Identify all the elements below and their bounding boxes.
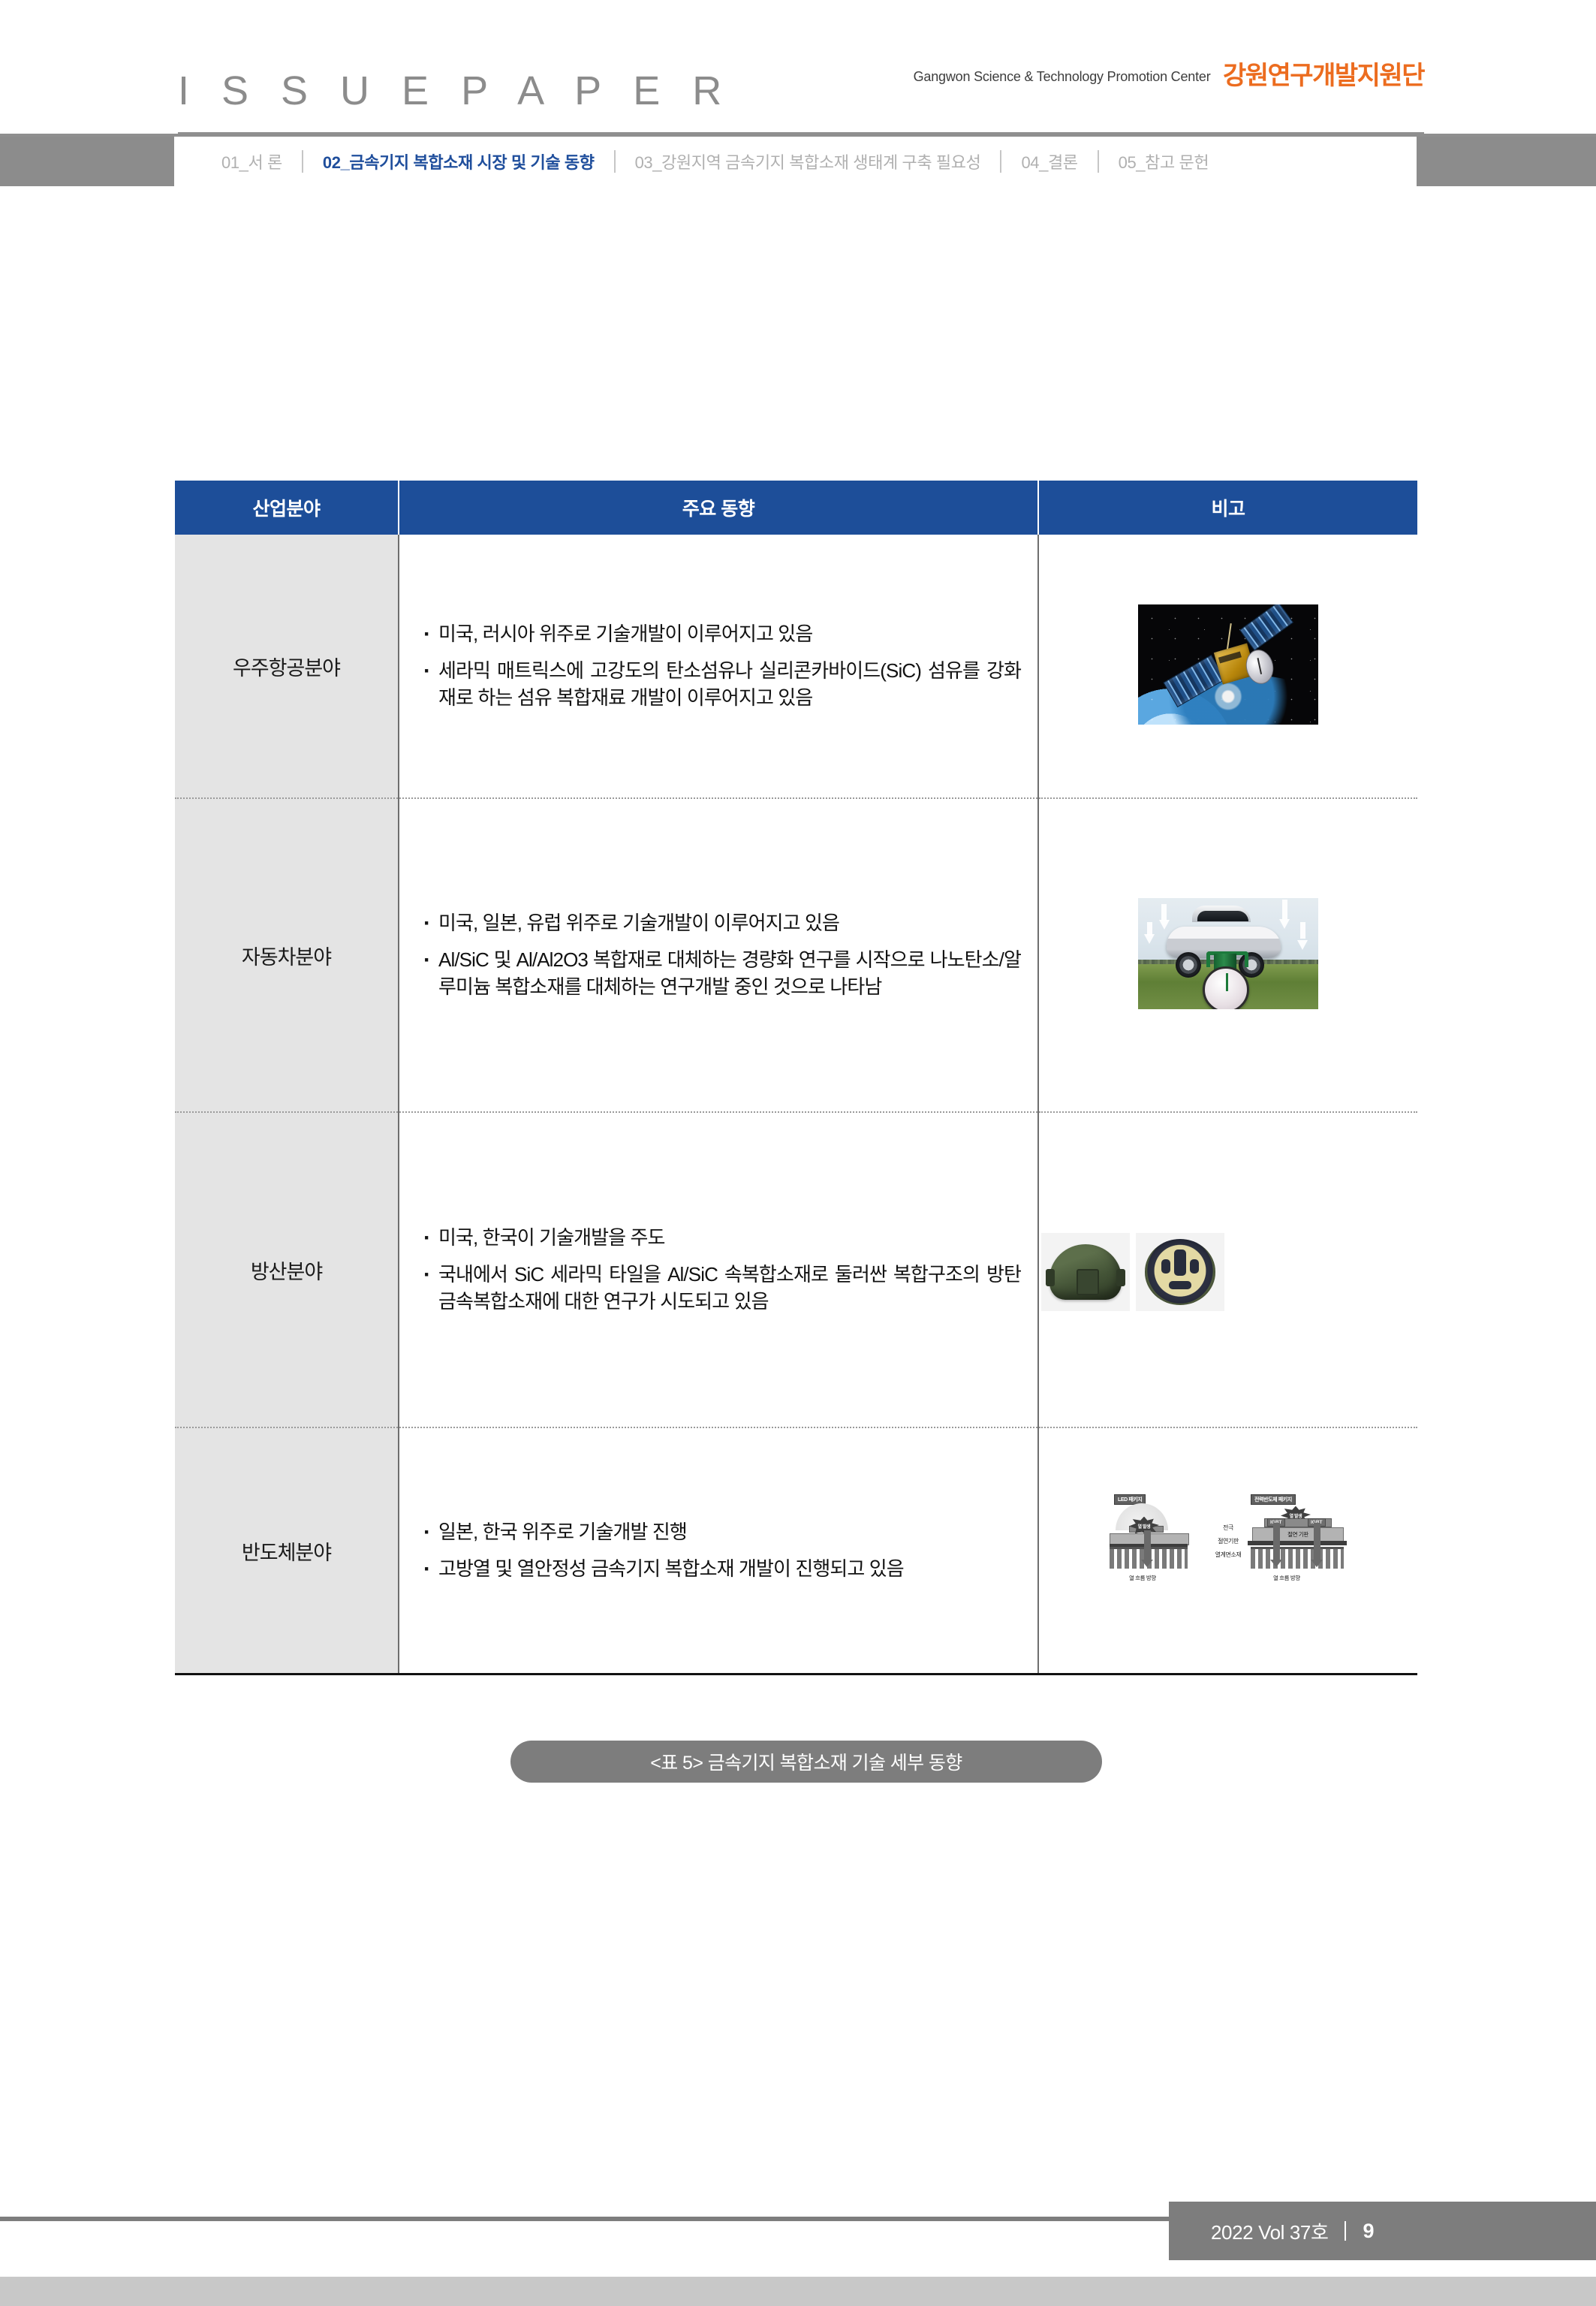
nav-item-04[interactable]: 04_결론 bbox=[1019, 149, 1079, 173]
down-arrow-head bbox=[1144, 934, 1155, 944]
semiconductor-package-diagram: LED 패키지 열 발생 열 흐름 방향 bbox=[1108, 1493, 1348, 1605]
bullet-item: Al/SiC 및 Al/Al2O3 복합재로 대체하는 경량화 연구를 시작으로… bbox=[422, 946, 1021, 1002]
down-arrow-stem bbox=[1282, 900, 1287, 919]
nav-band-right-block bbox=[1417, 137, 1596, 186]
table-caption: <표 5> 금속기지 복합소재 기술 세부 동향 bbox=[510, 1741, 1102, 1783]
heatsink-fins bbox=[1251, 1547, 1344, 1569]
bullet-list: 미국, 일본, 유럽 위주로 기술개발이 이루어지고 있음 Al/SiC 및 A… bbox=[422, 909, 1021, 1002]
helmet-liner bbox=[1145, 1239, 1215, 1304]
table-body: 우주항공분야 미국, 러시아 위주로 기술개발이 이루어지고 있음 세라믹 매트… bbox=[175, 535, 1417, 1674]
helmet-pad bbox=[1174, 1249, 1185, 1276]
heat-flow-arrow bbox=[1144, 1530, 1151, 1560]
cell-industry-field: 자동차분야 bbox=[175, 798, 399, 1112]
table-row: 방산분야 미국, 한국이 기술개발을 주도 국내에서 SiC 세라믹 타일을 A… bbox=[175, 1112, 1417, 1427]
bullet-item: 미국, 러시아 위주로 기술개발이 이루어지고 있음 bbox=[422, 620, 1021, 648]
nav-item-05[interactable]: 05_참고 문헌 bbox=[1117, 149, 1211, 173]
power-semiconductor-package-diagram: 전력반도체 패키지 열 발생 IGBT IGBT 절연 기판 bbox=[1248, 1493, 1347, 1605]
cell-note bbox=[1038, 798, 1417, 1112]
cell-industry-field: 우주항공분야 bbox=[175, 535, 399, 798]
thermal-interface-material bbox=[1248, 1541, 1347, 1545]
nav-separator bbox=[614, 150, 616, 173]
masthead-divider-inner bbox=[178, 132, 1424, 134]
heat-flow-arrow bbox=[1273, 1523, 1280, 1560]
bullet-item: 미국, 일본, 유럽 위주로 기술개발이 이루어지고 있음 bbox=[422, 909, 1021, 937]
table-row: 반도체분야 일본, 한국 위주로 기술개발 진행 고방열 및 열안정성 금속기지… bbox=[175, 1427, 1417, 1674]
helmet-side-rail bbox=[1116, 1269, 1125, 1286]
bullet-item: 세라믹 매트릭스에 고강도의 탄소섬유나 실리콘카바이드(SiC) 섬유를 강화… bbox=[422, 657, 1021, 713]
heat-burst-label: 열 발생 bbox=[1138, 1523, 1151, 1530]
bullet-list: 일본, 한국 위주로 기술개발 진행 고방열 및 열안정성 금속기지 복합소재 … bbox=[422, 1518, 1021, 1583]
cell-note bbox=[1038, 535, 1417, 798]
logo-korean-name: 강원연구개발지원단 bbox=[1223, 63, 1424, 89]
heat-flow-label: 열 흐름 방향 bbox=[1129, 1574, 1156, 1582]
helmet-pad bbox=[1190, 1259, 1198, 1274]
section-nav: 01_서 론 02_금속기지 복합소재 시장 및 기술 동향 03_강원지역 금… bbox=[178, 137, 1413, 186]
down-arrow-head bbox=[1279, 919, 1290, 929]
bullet-item: 고방열 및 열안정성 금속기지 복합소재 개발이 진행되고 있음 bbox=[422, 1555, 1021, 1583]
nav-item-01[interactable]: 01_서 론 bbox=[220, 149, 284, 173]
cell-main-trends: 미국, 일본, 유럽 위주로 기술개발이 이루어지고 있음 Al/SiC 및 A… bbox=[399, 798, 1038, 1112]
page-bottom-fill bbox=[0, 2277, 1596, 2306]
cell-industry-field: 방산분야 bbox=[175, 1112, 399, 1427]
bullet-item: 미국, 한국이 기술개발을 주도 bbox=[422, 1224, 1021, 1252]
helmet-pad bbox=[1169, 1281, 1191, 1289]
table-row: 우주항공분야 미국, 러시아 위주로 기술개발이 이루어지고 있음 세라믹 매트… bbox=[175, 535, 1417, 798]
ballistic-helmet-image bbox=[1039, 1228, 1227, 1311]
document-page: I S S U E P A P E R Gangwon Science & Te… bbox=[0, 0, 1596, 2306]
car-window bbox=[1197, 911, 1248, 921]
bullet-list: 미국, 한국이 기술개발을 주도 국내에서 SiC 세라믹 타일을 Al/SiC… bbox=[422, 1224, 1021, 1316]
footer-page-number: 9 bbox=[1363, 2220, 1374, 2243]
helmet-nvg-mount bbox=[1077, 1269, 1099, 1295]
masthead: I S S U E P A P E R Gangwon Science & Te… bbox=[178, 72, 1424, 131]
car-on-weighing-scale-image bbox=[1138, 898, 1318, 1009]
logo-english-name: Gangwon Science & Technology Promotion C… bbox=[914, 70, 1211, 83]
down-arrow-head bbox=[1297, 940, 1308, 950]
table-header-row: 산업분야 주요 동향 비고 bbox=[175, 481, 1417, 535]
footer-volume: 2022 Vol 37호 bbox=[1211, 2217, 1328, 2245]
bullet-list: 미국, 러시아 위주로 기술개발이 이루어지고 있음 세라믹 매트릭스에 고강도… bbox=[422, 620, 1021, 713]
helmet-interior-view bbox=[1136, 1233, 1224, 1311]
table-head: 산업분야 주요 동향 비고 bbox=[175, 481, 1417, 535]
helmet-exterior-view bbox=[1041, 1233, 1130, 1311]
column-header-industry-field: 산업분야 bbox=[175, 481, 399, 535]
column-header-main-trends: 주요 동향 bbox=[399, 481, 1038, 535]
footer: 2022 Vol 37호 9 bbox=[1169, 2202, 1596, 2260]
technology-trends-table: 산업분야 주요 동향 비고 우주항공분야 미국, 러시아 위주로 기술개발이 이… bbox=[175, 481, 1417, 1675]
scale-needle bbox=[1226, 973, 1228, 992]
power-package-label: 전력반도체 패키지 bbox=[1251, 1494, 1296, 1505]
organization-logo: Gangwon Science & Technology Promotion C… bbox=[914, 63, 1424, 89]
cell-note bbox=[1038, 1112, 1417, 1427]
heat-flow-arrow bbox=[1314, 1523, 1320, 1560]
helmet-side-rail bbox=[1046, 1269, 1055, 1286]
satellite-in-orbit-image bbox=[1138, 604, 1318, 725]
cell-note: LED 패키지 열 발생 열 흐름 방향 bbox=[1038, 1427, 1417, 1674]
cell-main-trends: 일본, 한국 위주로 기술개발 진행 고방열 및 열안정성 금속기지 복합소재 … bbox=[399, 1427, 1038, 1674]
nav-separator bbox=[1000, 150, 1001, 173]
cell-main-trends: 미국, 한국이 기술개발을 주도 국내에서 SiC 세라믹 타일을 Al/SiC… bbox=[399, 1112, 1038, 1427]
footer-separator bbox=[1345, 2221, 1346, 2241]
nav-band-left-block bbox=[0, 137, 174, 186]
nav-item-03[interactable]: 03_강원지역 금속기지 복합소재 생태계 구축 필요성 bbox=[634, 149, 983, 173]
column-header-note: 비고 bbox=[1038, 481, 1417, 535]
nav-separator bbox=[302, 150, 303, 173]
substrate-label: 절연 기판 bbox=[1287, 1530, 1308, 1539]
heat-flow-label: 열 흐름 방향 bbox=[1273, 1574, 1300, 1582]
cell-main-trends: 미국, 러시아 위주로 기술개발이 이루어지고 있음 세라믹 매트릭스에 고강도… bbox=[399, 535, 1038, 798]
helmet-pad bbox=[1161, 1259, 1170, 1274]
down-arrow-head bbox=[1159, 920, 1170, 930]
insulating-substrate: 절연 기판 bbox=[1252, 1527, 1344, 1542]
bullet-item: 국내에서 SiC 세라믹 타일을 Al/SiC 속복합소재로 둘러싼 복합구조의… bbox=[422, 1261, 1021, 1316]
down-arrow-stem bbox=[1300, 922, 1305, 939]
down-arrow-stem bbox=[1161, 904, 1167, 921]
scale-dial bbox=[1203, 966, 1249, 1008]
table-row: 자동차분야 미국, 일본, 유럽 위주로 기술개발이 이루어지고 있음 Al/S… bbox=[175, 798, 1417, 1112]
bullet-item: 일본, 한국 위주로 기술개발 진행 bbox=[422, 1518, 1021, 1546]
nav-separator bbox=[1098, 150, 1099, 173]
cell-industry-field: 반도체분야 bbox=[175, 1427, 399, 1674]
nav-item-02[interactable]: 02_금속기지 복합소재 시장 및 기술 동향 bbox=[321, 149, 596, 173]
page-title: I S S U E P A P E R bbox=[178, 71, 732, 111]
